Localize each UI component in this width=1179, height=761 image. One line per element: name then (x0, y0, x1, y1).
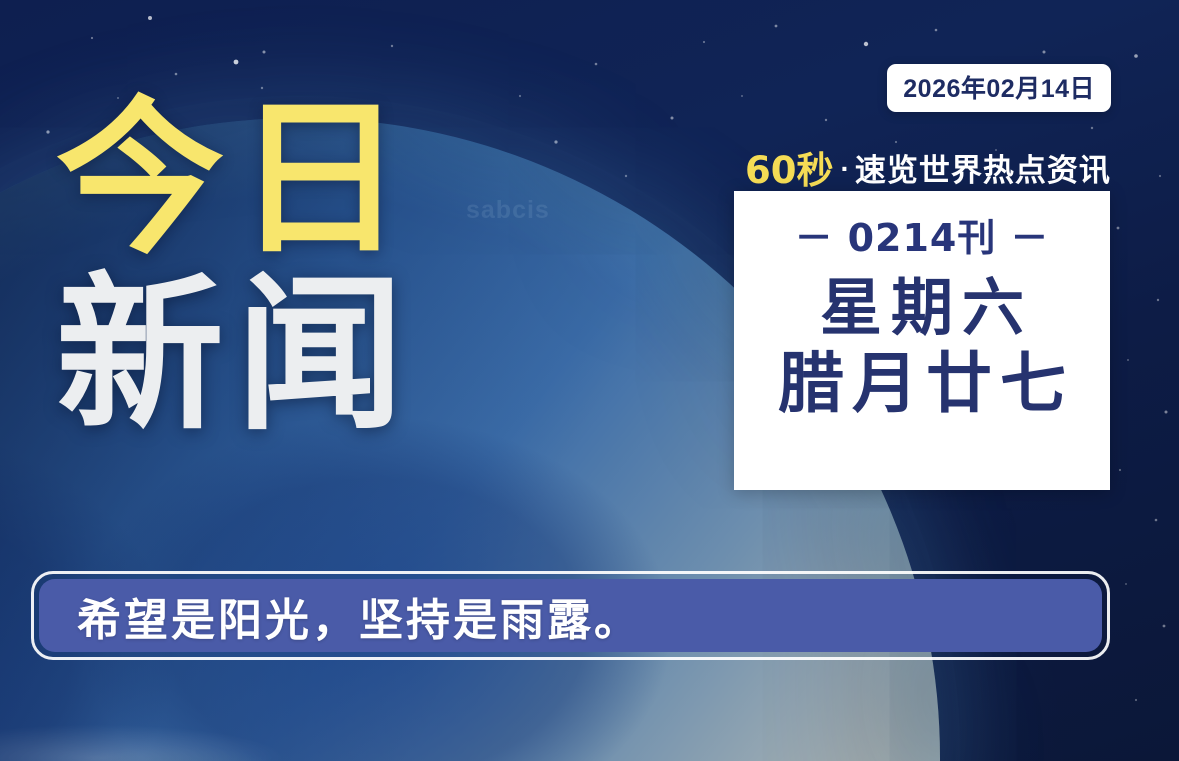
headline-line-2: 新闻 (56, 272, 416, 438)
info-card: －0214刊－ 星期六 腊月廿七 (734, 191, 1110, 490)
issue-line: －0214刊－ (781, 207, 1064, 262)
issue-dash-left: － (795, 216, 834, 260)
lunar-date-text: 腊月廿七 (770, 349, 1074, 418)
quote-bar-inner: 希望是阳光，坚持是雨露。 (39, 579, 1102, 652)
news-poster: sabcis 今日 新闻 2026年02月14日 60秒·速览世界热点资讯 －0… (0, 0, 1179, 761)
issue-dash-right: － (1010, 216, 1049, 260)
tagline-seconds: 60秒 (745, 149, 834, 192)
tagline-separator: · (841, 153, 850, 184)
weekday-text: 星期六 (811, 276, 1033, 341)
tagline: 60秒·速览世界热点资讯 (745, 140, 1111, 194)
page-title: 今日 新闻 (56, 96, 416, 439)
quote-bar: 希望是阳光，坚持是雨露。 (31, 571, 1110, 660)
headline-line-1: 今日 (56, 96, 416, 262)
tagline-subtitle: 速览世界热点资讯 (855, 153, 1111, 188)
issue-number: 0214刊 (848, 216, 997, 260)
quote-text: 希望是阳光，坚持是雨露。 (77, 584, 641, 648)
date-badge: 2026年02月14日 (887, 64, 1111, 112)
